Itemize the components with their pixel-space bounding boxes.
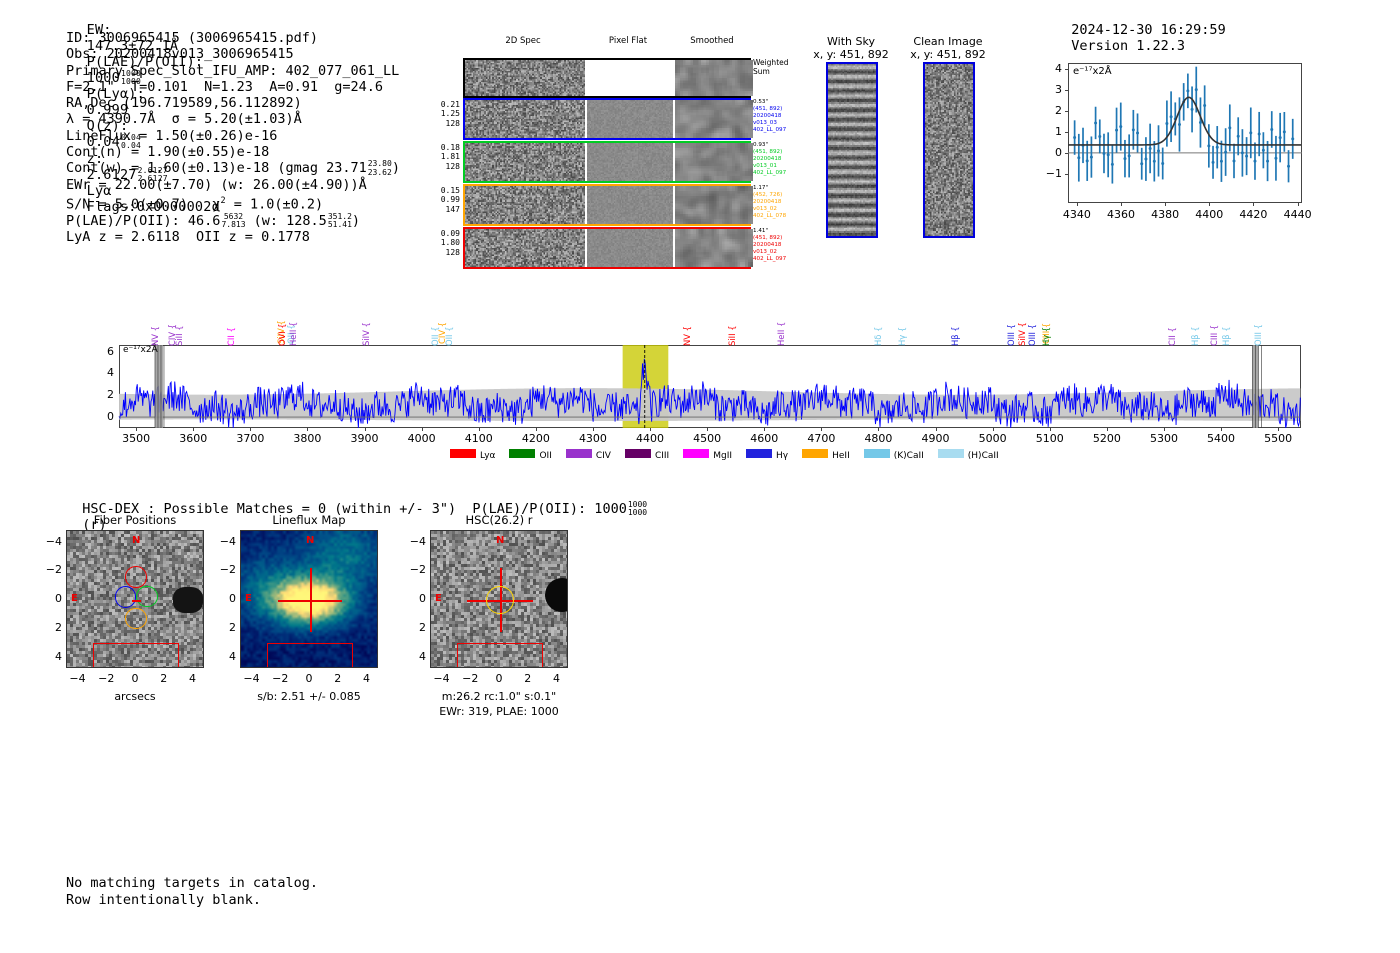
compass-north: N [496, 535, 504, 546]
legend-swatch [625, 449, 651, 458]
bottom-note: No matching targets in catalog. Row inte… [66, 875, 318, 909]
line-fit-data [1038, 57, 1306, 229]
compass-east: E [245, 593, 252, 604]
spec2d-row-stats: 0.150.99147 [430, 186, 460, 214]
aperture-box [93, 643, 179, 668]
fiber-circle [125, 566, 147, 588]
emission-line-label: SiII { [727, 308, 737, 346]
info-cont-n: Cont(n) = 1.90(±0.55)e-18 [66, 144, 400, 160]
spectrum-xtick: 5200 [1081, 432, 1133, 445]
legend-entry: OII [509, 443, 551, 462]
cutout-coords: x, y: 451, 892 [883, 48, 1013, 61]
hscdex-caption-2: EWr: 319, PLAE: 1000 [395, 705, 603, 718]
info-primary-spec: Primary Spec_Slot_IFU_AMP: 402_077_061_L… [66, 63, 400, 79]
legend-label: OII [539, 451, 551, 461]
spec2d-row-stats: 0.211.25128 [430, 100, 460, 128]
hscdex-ytick: 2 [408, 621, 426, 634]
legend-swatch [938, 449, 964, 458]
spectrum-xtick: 3800 [281, 432, 333, 445]
spec2d-row [463, 58, 751, 98]
spec2d-image-segment [675, 60, 753, 96]
hscdex-ytick: 4 [218, 650, 236, 663]
hscdex-ytick: −4 [44, 535, 62, 548]
bottom-line-2: Row intentionally blank. [66, 892, 318, 909]
hscdex-xtick: 4 [543, 672, 571, 685]
emission-line-label: OIII { [1027, 308, 1037, 346]
spec2d-image-segment [675, 186, 753, 224]
info-params: F=2.1" T=0.101 N=1.23 A=0.91 g=24.6 [66, 79, 400, 95]
hscdex-xtick: 2 [514, 672, 542, 685]
crosshair-vertical [310, 568, 312, 631]
legend-swatch [864, 449, 890, 458]
gmag-range: 23.8023.62 [368, 160, 392, 176]
emission-line-label: Hβ { [1190, 308, 1200, 346]
spec2d-row-meta: 0.93"(451, 892)20200418v013_01402_LL_097 [753, 142, 813, 177]
hscdex-panel-title: HSC(26.2) r [400, 513, 598, 527]
full-spectrum-plot: 0246350036003700380039004000410042004300… [97, 345, 1305, 428]
emission-line-label: OVI { [277, 308, 287, 346]
hscdex-xtick: −4 [238, 672, 266, 685]
emission-line-label: SiIV { [1017, 308, 1027, 346]
spec2d-row-stats: 0.181.81128 [430, 143, 460, 171]
legend-label: (H)CaII [968, 451, 999, 461]
legend-swatch [683, 449, 709, 458]
emission-line-label: OIII { [1006, 308, 1016, 346]
emission-line-label: OIII { [1253, 308, 1263, 346]
version: Version 1.22.3 [1071, 38, 1185, 54]
hscdex-ytick: −4 [408, 535, 426, 548]
info-plae: P(LAE)/P(OII): 46.656327.813 (w: 128.535… [66, 213, 400, 229]
hscdex-xtick: 2 [324, 672, 352, 685]
compass-north: N [306, 535, 314, 546]
hscdex-xtick: 0 [485, 672, 513, 685]
compass-east: E [435, 593, 442, 604]
legend-entry: Hγ [746, 443, 788, 462]
aperture-box [267, 643, 353, 668]
compass-north: N [132, 535, 140, 546]
spectrum-xtick: 3500 [110, 432, 162, 445]
legend-swatch [450, 449, 476, 458]
legend-label: HeII [832, 451, 850, 461]
emission-line-label: NV { [150, 308, 160, 346]
hscdex-xtick: −4 [64, 672, 92, 685]
hscdex-panel-title: Fiber Positions [36, 513, 234, 527]
emission-line-label: Hγ { [897, 308, 907, 346]
hscdex-ytick: −4 [218, 535, 236, 548]
spec2d-image-segment [465, 186, 585, 224]
fiber-circle [136, 586, 158, 608]
info-lineflux: LineFlux = 1.50(±0.26)e-16 [66, 128, 400, 144]
info-redshifts: LyA z = 2.6118 OII z = 0.1778 [66, 229, 400, 245]
spec2d-image-segment [587, 143, 673, 181]
emission-line-label: CII { [1167, 308, 1177, 346]
bright-source-blob [173, 587, 203, 613]
hscdex-xtick: 0 [121, 672, 149, 685]
timestamp: 2024-12-30 16:29:59 [1071, 22, 1225, 38]
legend-label: CIII [655, 451, 669, 461]
bottom-line-1: No matching targets in catalog. [66, 875, 318, 892]
spec2d-row [463, 141, 751, 183]
hscdex-plae-range: 10001000 [628, 501, 647, 517]
legend-entry: HeII [802, 443, 850, 462]
hscdex-panel-lineflux-map: NE [240, 530, 378, 668]
line-fit-plot: e⁻¹⁷x2Å43210−1434043604380440044204440 [1038, 57, 1306, 229]
emission-line-label: SiII { [174, 308, 184, 346]
hscdex-xtick: −2 [456, 672, 484, 685]
legend-entry: (H)CaII [938, 443, 999, 462]
emission-line-label: SiIV { [361, 308, 371, 346]
hscdex-ytick: 2 [44, 621, 62, 634]
hscdex-panel-fiber-positions: NE [66, 530, 204, 668]
fiber-circle [125, 608, 147, 630]
spectrum-xtick: 3600 [167, 432, 219, 445]
hscdex-xtick: −2 [92, 672, 120, 685]
hscdex-xtick: −4 [428, 672, 456, 685]
info-cont-w: Cont(w) = 1.60(±0.13)e-18 (gmag 23.7123.… [66, 160, 400, 176]
spec2d-image-segment [587, 229, 673, 267]
spec2d-image-segment [675, 100, 753, 138]
hscdex-ytick: 0 [44, 592, 62, 605]
spec2d-row-stats: 0.091.80128 [430, 229, 460, 257]
detection-info-block: ID: 3006965415 (3006965415.pdf) Obs: 202… [66, 30, 400, 246]
legend-swatch [746, 449, 772, 458]
emission-line-label: Hγ { [1041, 308, 1051, 346]
emission-line-label: OII { [444, 308, 454, 346]
spectrum-xtick: 4000 [396, 432, 448, 445]
spec2d-row-meta: 0.53"(451, 892)20200418v013_03402_LL_097 [753, 99, 813, 134]
info-radec: RA,Dec (196.719589,56.112892) [66, 95, 400, 111]
spec2d-row-meta: 1.41"(451, 892)20200418v013_02402_LL_097 [753, 228, 813, 263]
col-title-smoothed: Smoothed [673, 36, 751, 46]
hscdex-ytick: 4 [44, 650, 62, 663]
legend-swatch [509, 449, 535, 458]
hscdex-xtick: 4 [179, 672, 207, 685]
hscdex-ytick: 2 [218, 621, 236, 634]
emission-line-label: Hβ { [950, 308, 960, 346]
emission-line-label: CII { [226, 308, 236, 346]
legend-entry: CIII [625, 443, 669, 462]
spec2d-row [463, 184, 751, 226]
spec2d-row [463, 98, 751, 140]
cutout-image-with-sky [826, 62, 878, 238]
hscdex-xtick: 2 [150, 672, 178, 685]
spec2d-image-segment [675, 229, 753, 267]
legend-entry: MgII [683, 443, 732, 462]
info-ewr: EWr = 22.00(±7.70) (w: 26.00(±4.90))Å [66, 177, 400, 193]
hscdex-panel-title: Lineflux Map [210, 513, 408, 527]
hscdex-xtick: 4 [353, 672, 381, 685]
emission-line-label: HeII { [288, 308, 298, 346]
plae-w-range: 351.251.41 [328, 213, 352, 229]
hscdex-ytick: 0 [218, 592, 236, 605]
col-title-pixelflat: Pixel Flat [583, 36, 673, 46]
target-marker [132, 600, 141, 602]
hscdex-xtick: −2 [266, 672, 294, 685]
plae-n-range: 56327.813 [221, 213, 245, 229]
spec2d-image-segment [465, 100, 585, 138]
spec2d-panel: 2D Spec Pixel Flat Smoothed Weighted Sum… [430, 36, 770, 248]
spectrum-xtick: 5300 [1138, 432, 1190, 445]
spec2d-image-segment [465, 60, 585, 96]
spectrum-yunits: e⁻¹⁷x2Å [123, 345, 158, 355]
legend-label: (K)CaII [894, 451, 924, 461]
header-meta: 2024-12-30 16:29:59 Version 1.22.3 [1055, 6, 1234, 54]
legend-label: CIV [596, 451, 611, 461]
spec2d-row [463, 227, 751, 269]
emission-line-label: HeII { [776, 308, 786, 346]
legend-entry: CIV [566, 443, 611, 462]
spec2d-image-segment [587, 60, 673, 96]
info-sn: S/N = 5.0(±0.7) χ2 = 1.0(±0.2) [66, 193, 400, 213]
spec2d-image-segment [587, 100, 673, 138]
hscdex-ytick: 4 [408, 650, 426, 663]
spectrum-xtick: 3900 [339, 432, 391, 445]
hscdex-ytick: 0 [408, 592, 426, 605]
info-obs: Obs: 20200418v013_3006965415 [66, 46, 400, 62]
legend-swatch [566, 449, 592, 458]
weighted-sum-label: Weighted Sum [753, 58, 789, 76]
info-lambda: λ = 4390.7Å σ = 5.20(±1.03)Å [66, 111, 400, 127]
spectrum-xtick: 3700 [224, 432, 276, 445]
spectrum-xtick: 5100 [1024, 432, 1076, 445]
aperture-box [457, 643, 543, 668]
spec2d-image-segment [675, 143, 753, 181]
hscdex-xtick: 0 [295, 672, 323, 685]
spec2d-row-meta: 1.17"(452, 726)20200418v013_02402_LL_078 [753, 185, 813, 220]
info-id: ID: 3006965415 (3006965415.pdf) [66, 30, 400, 46]
col-title-2dspec: 2D Spec [463, 36, 583, 46]
spectrum-xtick: 5500 [1252, 432, 1304, 445]
spec2d-image-segment [587, 186, 673, 224]
legend-label: MgII [713, 451, 732, 461]
emission-line-label: Hβ { [1221, 308, 1231, 346]
spectrum-xtick: 5400 [1195, 432, 1247, 445]
cutout-title: Clean Imagex, y: 451, 892 [883, 35, 1013, 61]
legend-label: Hγ [776, 451, 788, 461]
legend-entry: (K)CaII [864, 443, 924, 462]
spec2d-image-segment [465, 143, 585, 181]
emission-line-label: Hδ { [873, 308, 883, 346]
hscdex-ytick: −2 [218, 563, 236, 576]
hscdex-caption-1: s/b: 2.51 +/- 0.085 [205, 690, 413, 703]
spec2d-image-segment [465, 229, 585, 267]
emission-line-label: NV { [682, 308, 692, 346]
spectrum-trace [97, 345, 1305, 429]
legend-swatch [802, 449, 828, 458]
spectrum-legend: LyαOIICIVCIIIMgIIHγHeII(K)CaII(H)CaII [450, 443, 1013, 462]
emission-line-label: CIII { [1209, 308, 1219, 346]
hscdex-panel-hsc-image: NE [430, 530, 568, 668]
legend-entry: Lyα [450, 443, 495, 462]
legend-label: Lyα [480, 451, 495, 461]
hscdex-ytick: −2 [408, 563, 426, 576]
cutout-image-clean [923, 62, 975, 238]
hscdex-caption-1: m:26.2 rc:1.0" s:0.1" [395, 690, 603, 703]
hscdex-ytick: −2 [44, 563, 62, 576]
compass-east: E [71, 593, 78, 604]
